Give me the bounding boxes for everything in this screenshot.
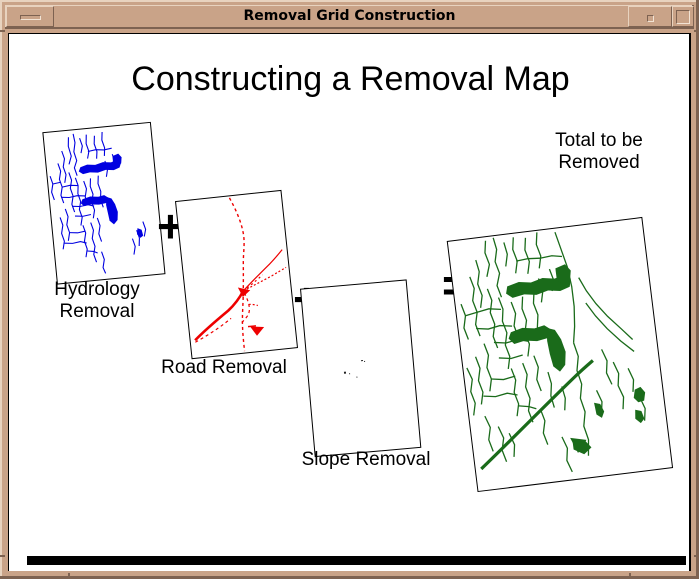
slide-bottom-bar xyxy=(27,556,686,565)
window-frame-left-highlight xyxy=(0,0,2,579)
total-removal-map[interactable] xyxy=(442,210,687,505)
slope-removal-map[interactable] xyxy=(294,272,434,477)
window-title: Removal Grid Construction xyxy=(5,5,694,27)
window-client-area: Constructing a Removal Map xyxy=(8,33,691,571)
slope-removal-caption: Slope Removal xyxy=(271,449,461,471)
minimize-icon xyxy=(647,15,654,22)
frame-grip-divider-left-top[interactable] xyxy=(0,30,5,32)
window-menu-button[interactable] xyxy=(6,6,54,27)
maximize-icon xyxy=(676,10,690,24)
road-marker-tick xyxy=(248,326,256,327)
titlebar-shadow xyxy=(5,27,694,29)
frame-grip-divider-bottom-left[interactable] xyxy=(68,573,70,579)
hydrology-removal-caption: Hydrology Removal xyxy=(17,279,177,323)
frame-grip-divider-left-bottom[interactable] xyxy=(0,555,5,557)
maximize-button[interactable] xyxy=(672,6,694,27)
application-window: Removal Grid Construction Constructing a… xyxy=(0,0,699,579)
road-removal-caption: Road Removal xyxy=(134,357,314,379)
frame-grip-divider-right-bottom[interactable] xyxy=(694,555,699,557)
total-removal-caption: Total to be Removed xyxy=(499,130,691,174)
window-menu-icon xyxy=(20,15,41,20)
window-frame-top-highlight xyxy=(0,0,699,2)
slide-title: Constructing a Removal Map xyxy=(9,60,691,99)
frame-grip-divider-right-top[interactable] xyxy=(694,30,699,32)
frame-grip-divider-bottom-right[interactable] xyxy=(629,573,631,579)
minimize-button[interactable] xyxy=(628,6,672,27)
slide-canvas: Constructing a Removal Map xyxy=(9,34,691,571)
window-titlebar[interactable]: Removal Grid Construction xyxy=(5,5,694,29)
